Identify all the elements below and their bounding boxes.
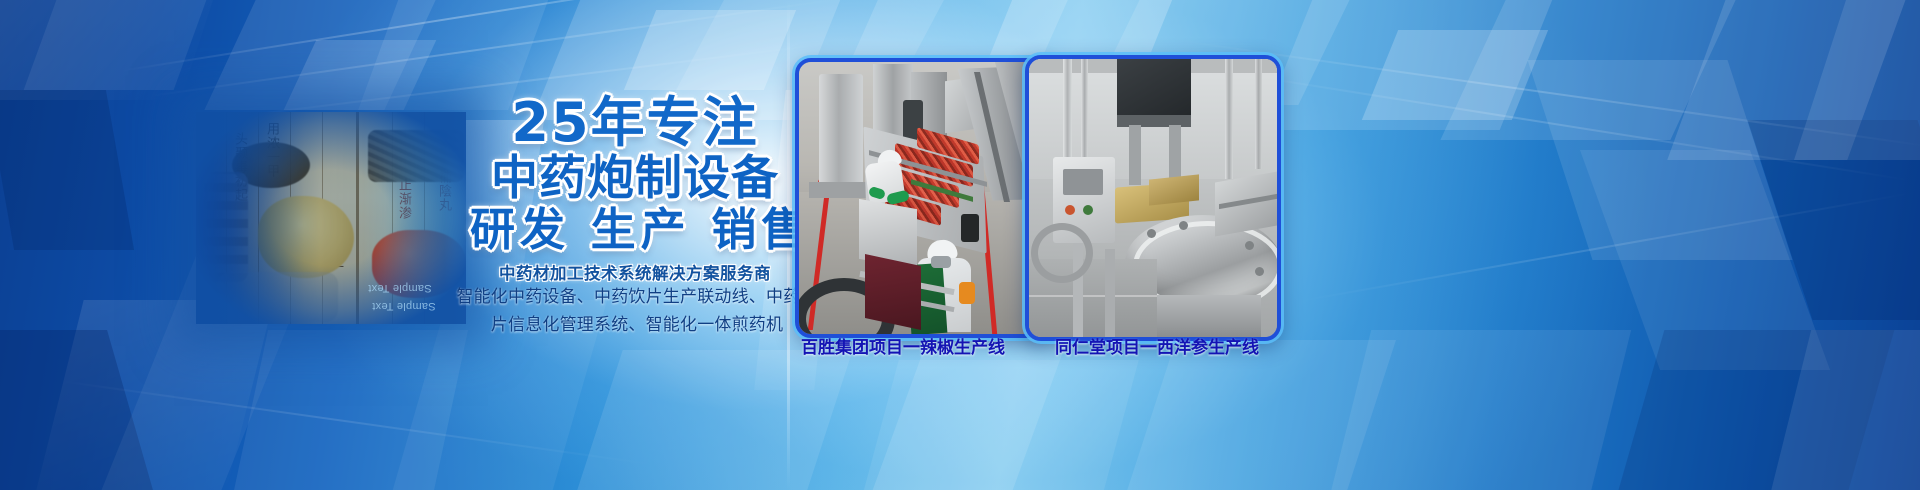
black-bin — [961, 214, 979, 242]
stainless-machine — [809, 182, 871, 198]
promotional-banner: 头颞毒初起 用浓一甲 方日枚丈柏 女十一 止渐渗 補陰丸 Sample Text… — [0, 0, 1920, 490]
photo-card-chili[interactable] — [795, 58, 1051, 338]
control-panel-screen — [1063, 169, 1103, 195]
photo-card-ginseng[interactable] — [1025, 55, 1281, 341]
brass-machine-block — [1149, 174, 1199, 205]
worker-mask — [931, 256, 951, 268]
machine-head — [1117, 59, 1191, 121]
headline-line-3: 研发 生产 销售 — [470, 207, 800, 252]
stainless-drum-bolt — [1255, 267, 1264, 276]
watermark-text: Sample Text — [372, 300, 436, 312]
machine-support — [1169, 125, 1181, 179]
watermark-text: Sample Text — [368, 282, 432, 294]
shard — [0, 90, 134, 250]
safety-item-orange — [959, 282, 975, 304]
american-ginseng-production-line-photo — [1029, 59, 1277, 337]
herb-image: 头颞毒初起 用浓一甲 方日枚丈柏 女十一 止渐渗 補陰丸 Sample Text… — [196, 112, 466, 324]
headline-block: 25年专注 中药炮制设备 研发 生产 销售 中药材加工技术系统解决方案服务商 — [470, 96, 800, 284]
maroon-tray — [865, 254, 921, 330]
stainless-drum-bolt — [1245, 241, 1254, 250]
shard — [1329, 330, 1631, 490]
floor-tile-line — [1029, 295, 1157, 297]
stainless-drum-bolt — [1147, 229, 1156, 238]
machine-leg — [1105, 249, 1115, 337]
headline-line-2: 中药炮制设备 — [470, 155, 800, 202]
stainless-machine — [819, 74, 863, 192]
control-panel-button — [1083, 205, 1093, 215]
vertical-pipe — [1225, 59, 1233, 179]
stainless-drum-bolt — [1179, 221, 1188, 230]
hose — [1031, 223, 1093, 283]
vertical-pipe — [1255, 59, 1262, 169]
control-panel-button — [1065, 205, 1075, 215]
chili-production-line-photo — [799, 62, 1047, 334]
photo-caption-chili: 百胜集团项目一辣椒生产线 — [801, 333, 1005, 358]
machine-support — [1129, 125, 1141, 185]
drum-base — [1157, 295, 1261, 337]
herb-image-inner: 头颞毒初起 用浓一甲 方日枚丈柏 女十一 止渐渗 補陰丸 Sample Text… — [196, 112, 466, 324]
photo-caption-ginseng: 同仁堂项目一西洋参生产线 — [1055, 333, 1259, 358]
headline-subtitle: 中药材加工技术系统解决方案服务商 — [470, 260, 800, 284]
headline-line-1: 25年专注 — [470, 96, 800, 150]
headline-description: 智能化中药设备、中药饮片生产联动线、中药饮片信息化管理系统、智能化一体煎药机 — [452, 283, 822, 339]
